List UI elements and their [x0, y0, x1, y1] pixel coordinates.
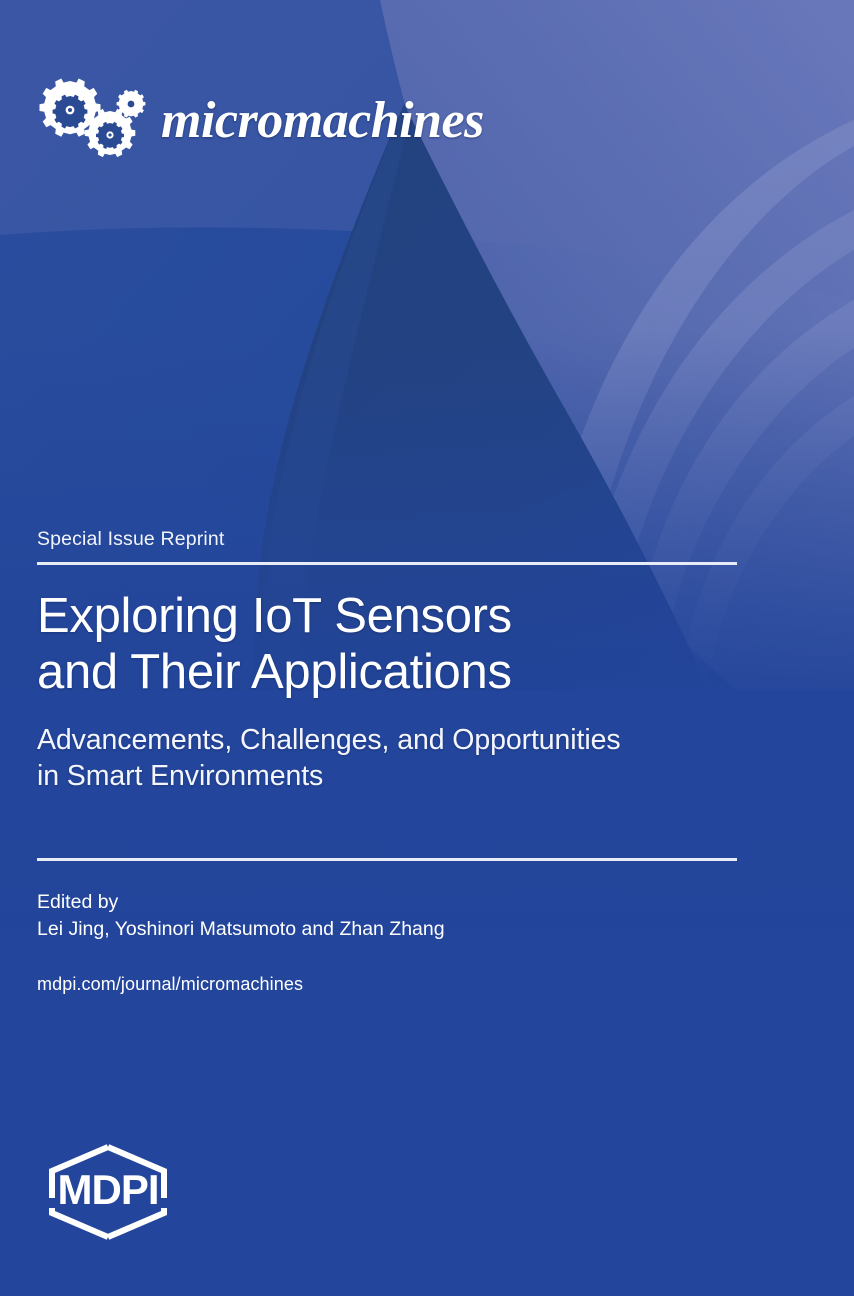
mdpi-hexagon-logo-icon: MDPI	[44, 1142, 174, 1242]
special-issue-reprint-label: Special Issue Reprint	[37, 528, 742, 551]
gears-icon	[37, 77, 149, 165]
title-block: Special Issue Reprint Exploring IoT Sens…	[37, 528, 742, 795]
title-divider-top	[37, 562, 737, 565]
publisher-logo: MDPI	[44, 1142, 174, 1242]
editor-divider	[37, 858, 737, 861]
subtitle-line-1: Advancements, Challenges, and Opportunit…	[37, 723, 742, 759]
mdpi-wordmark: MDPI	[58, 1166, 159, 1213]
editor-block: Edited by Lei Jing, Yoshinori Matsumoto …	[37, 858, 742, 995]
page-title: Exploring IoT Sensors and Their Applicat…	[37, 589, 742, 701]
page-subtitle: Advancements, Challenges, and Opportunit…	[37, 723, 742, 795]
journal-title: micromachines	[161, 95, 484, 147]
journal-url: mdpi.com/journal/micromachines	[37, 974, 742, 995]
editor-names: Lei Jing, Yoshinori Matsumoto and Zhan Z…	[37, 916, 742, 944]
title-line-1: Exploring IoT Sensors	[37, 589, 742, 645]
cover-content: micromachines Special Issue Reprint Expl…	[0, 0, 854, 1296]
journal-masthead: micromachines	[37, 75, 484, 167]
edited-by-label: Edited by	[37, 889, 742, 917]
subtitle-line-2: in Smart Environments	[37, 759, 742, 795]
book-cover: micromachines Special Issue Reprint Expl…	[0, 0, 854, 1296]
title-line-2: and Their Applications	[37, 645, 742, 701]
